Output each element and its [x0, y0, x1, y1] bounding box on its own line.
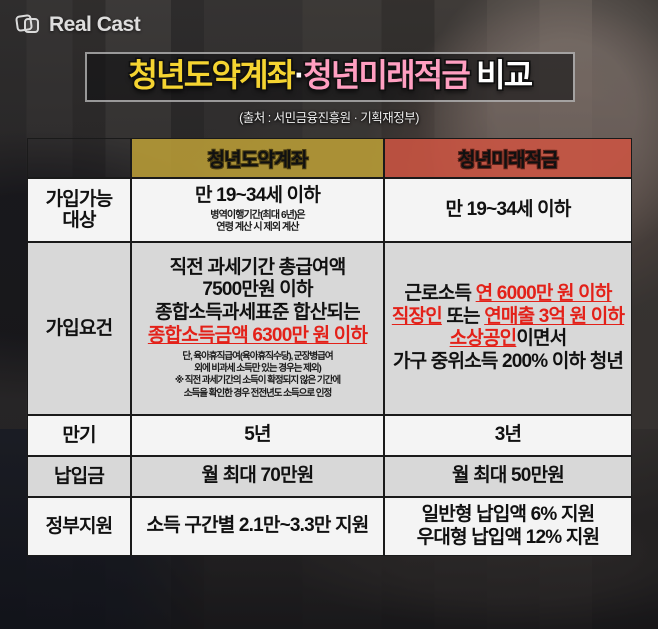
row-label-deposit: 납입금: [27, 456, 131, 497]
row-label-maturity: 만기: [27, 415, 131, 456]
title-box: 청년도약계좌·청년미래적금 비교: [85, 52, 575, 102]
cell-a-line2: 7500만원 이하: [138, 279, 377, 302]
cell-b-line3-highlight: 소상공인: [450, 328, 517, 349]
title-part-white: 비교: [476, 57, 531, 93]
cell-b-requirements: 근로소득 연 6000만 원 이하 직장인 또는 연매출 3억 원 이하 소상공…: [384, 242, 632, 415]
table-header: 청년도약계좌 청년미래적금: [27, 138, 632, 178]
cell-b-line3: 소상공인이면서: [391, 328, 625, 351]
cell-b-eligible-target: 만 19~34세 이하: [384, 178, 632, 242]
table-header-row: 청년도약계좌 청년미래적금: [27, 138, 632, 178]
comparison-table: 청년도약계좌 청년미래적금 가입가능 대상 만 19~34세 이하 병역이행기간…: [27, 138, 632, 556]
cell-a-eligible-target: 만 19~34세 이하 병역이행기간(최대 6년)은 연령 계산 시 제외 계산: [131, 178, 384, 242]
cell-b-gov-support: 일반형 납입액 6% 지원 우대형 납입액 12% 지원: [384, 497, 632, 557]
row-label-gov-support: 정부지원: [27, 497, 131, 557]
cell-a-note-line4: 소득을 확인한 경우 전전년도 소득으로 인정: [138, 388, 377, 400]
cell-b-line1-highlight: 연 6000만 원 이하: [476, 283, 612, 304]
row-label-line1: 가입가능: [46, 189, 113, 210]
cell-a-note-line3: ※ 직전 과세기간의 소득이 확정되지 않은 기간에: [138, 375, 377, 387]
table-row: 만기 5년 3년: [27, 415, 632, 456]
row-label-eligible-target: 가입가능 대상: [27, 178, 131, 242]
cell-b-maturity: 3년: [384, 415, 632, 456]
brand-name: Real Cast: [49, 13, 140, 37]
title-separator: ·: [294, 57, 303, 93]
overlapping-squares-logo-icon: [16, 12, 42, 38]
cell-b-line2-highlight-b: 연매출 3억 원 이하: [484, 306, 624, 327]
source-caption: (출처 : 서민금융진흥원 · 기획재정부): [0, 107, 658, 126]
cell-b-line2: 직장인 또는 연매출 3억 원 이하: [391, 306, 625, 329]
cell-b-line1-plain: 근로소득: [404, 283, 475, 304]
cell-a-note-line2: 외에 비과세 소득만 있는 경우는 제외): [138, 363, 377, 375]
cell-a-main: 소득 구간별 2.1만~3.3만 지원: [136, 515, 379, 538]
header-cell-blank: [27, 138, 131, 178]
title-part-pink: 청년미래적금: [303, 57, 469, 93]
cell-b-line1: 근로소득 연 6000만 원 이하: [391, 283, 625, 306]
cell-a-maturity: 5년: [131, 415, 384, 456]
title-part-gold: 청년도약계좌: [129, 57, 295, 93]
page-title: 청년도약계좌·청년미래적금 비교: [97, 59, 563, 93]
table-row: 정부지원 소득 구간별 2.1만~3.3만 지원 일반형 납입액 6% 지원 우…: [27, 497, 632, 557]
cell-b-line2-highlight-a: 직장인: [392, 306, 442, 327]
header-cell-product-a: 청년도약계좌: [131, 138, 384, 178]
cell-a-requirements: 직전 과세기간 총급여액 7500만원 이하 종합소득과세표준 합산되는 종합소…: [131, 242, 384, 415]
row-label-requirements: 가입요건: [27, 242, 131, 415]
header-cell-product-b: 청년미래적금: [384, 138, 632, 178]
cell-a-gov-support: 소득 구간별 2.1만~3.3만 지원: [131, 497, 384, 557]
cell-b-main: 만 19~34세 이하: [389, 199, 627, 222]
cell-a-deposit: 월 최대 70만원: [131, 456, 384, 497]
cell-b-line1: 일반형 납입액 6% 지원: [389, 504, 627, 527]
brand-logo: Real Cast: [16, 12, 140, 38]
cell-a-line1: 직전 과세기간 총급여액: [138, 257, 377, 280]
table-row: 가입가능 대상 만 19~34세 이하 병역이행기간(최대 6년)은 연령 계산…: [27, 178, 632, 242]
cell-b-line2: 우대형 납입액 12% 지원: [389, 527, 627, 550]
cell-b-line4: 가구 중위소득 200% 이하 청년: [391, 351, 625, 374]
cell-b-line2-plain: 또는: [442, 306, 484, 327]
row-label-line2: 대상: [62, 210, 95, 231]
cell-b-line3-plain: 이면서: [516, 328, 566, 349]
cell-a-main: 만 19~34세 이하: [136, 185, 379, 208]
cell-a-sub-line1: 병역이행기간(최대 6년)은: [136, 210, 379, 223]
cell-a-note-line1: 단, 육아휴직급여(육아휴직수당), 군장병급여: [138, 351, 377, 363]
cell-a-sub-line2: 연령 계산 시 제외 계산: [136, 222, 379, 235]
cell-b-deposit: 월 최대 50만원: [384, 456, 632, 497]
cell-a-line3: 종합소득과세표준 합산되는: [138, 302, 377, 325]
table-row: 가입요건 직전 과세기간 총급여액 7500만원 이하 종합소득과세표준 합산되…: [27, 242, 632, 415]
table-row: 납입금 월 최대 70만원 월 최대 50만원: [27, 456, 632, 497]
cell-a-line4-highlight: 종합소득금액 6300만 원 이하: [138, 325, 377, 348]
table-body: 가입가능 대상 만 19~34세 이하 병역이행기간(최대 6년)은 연령 계산…: [27, 178, 632, 556]
